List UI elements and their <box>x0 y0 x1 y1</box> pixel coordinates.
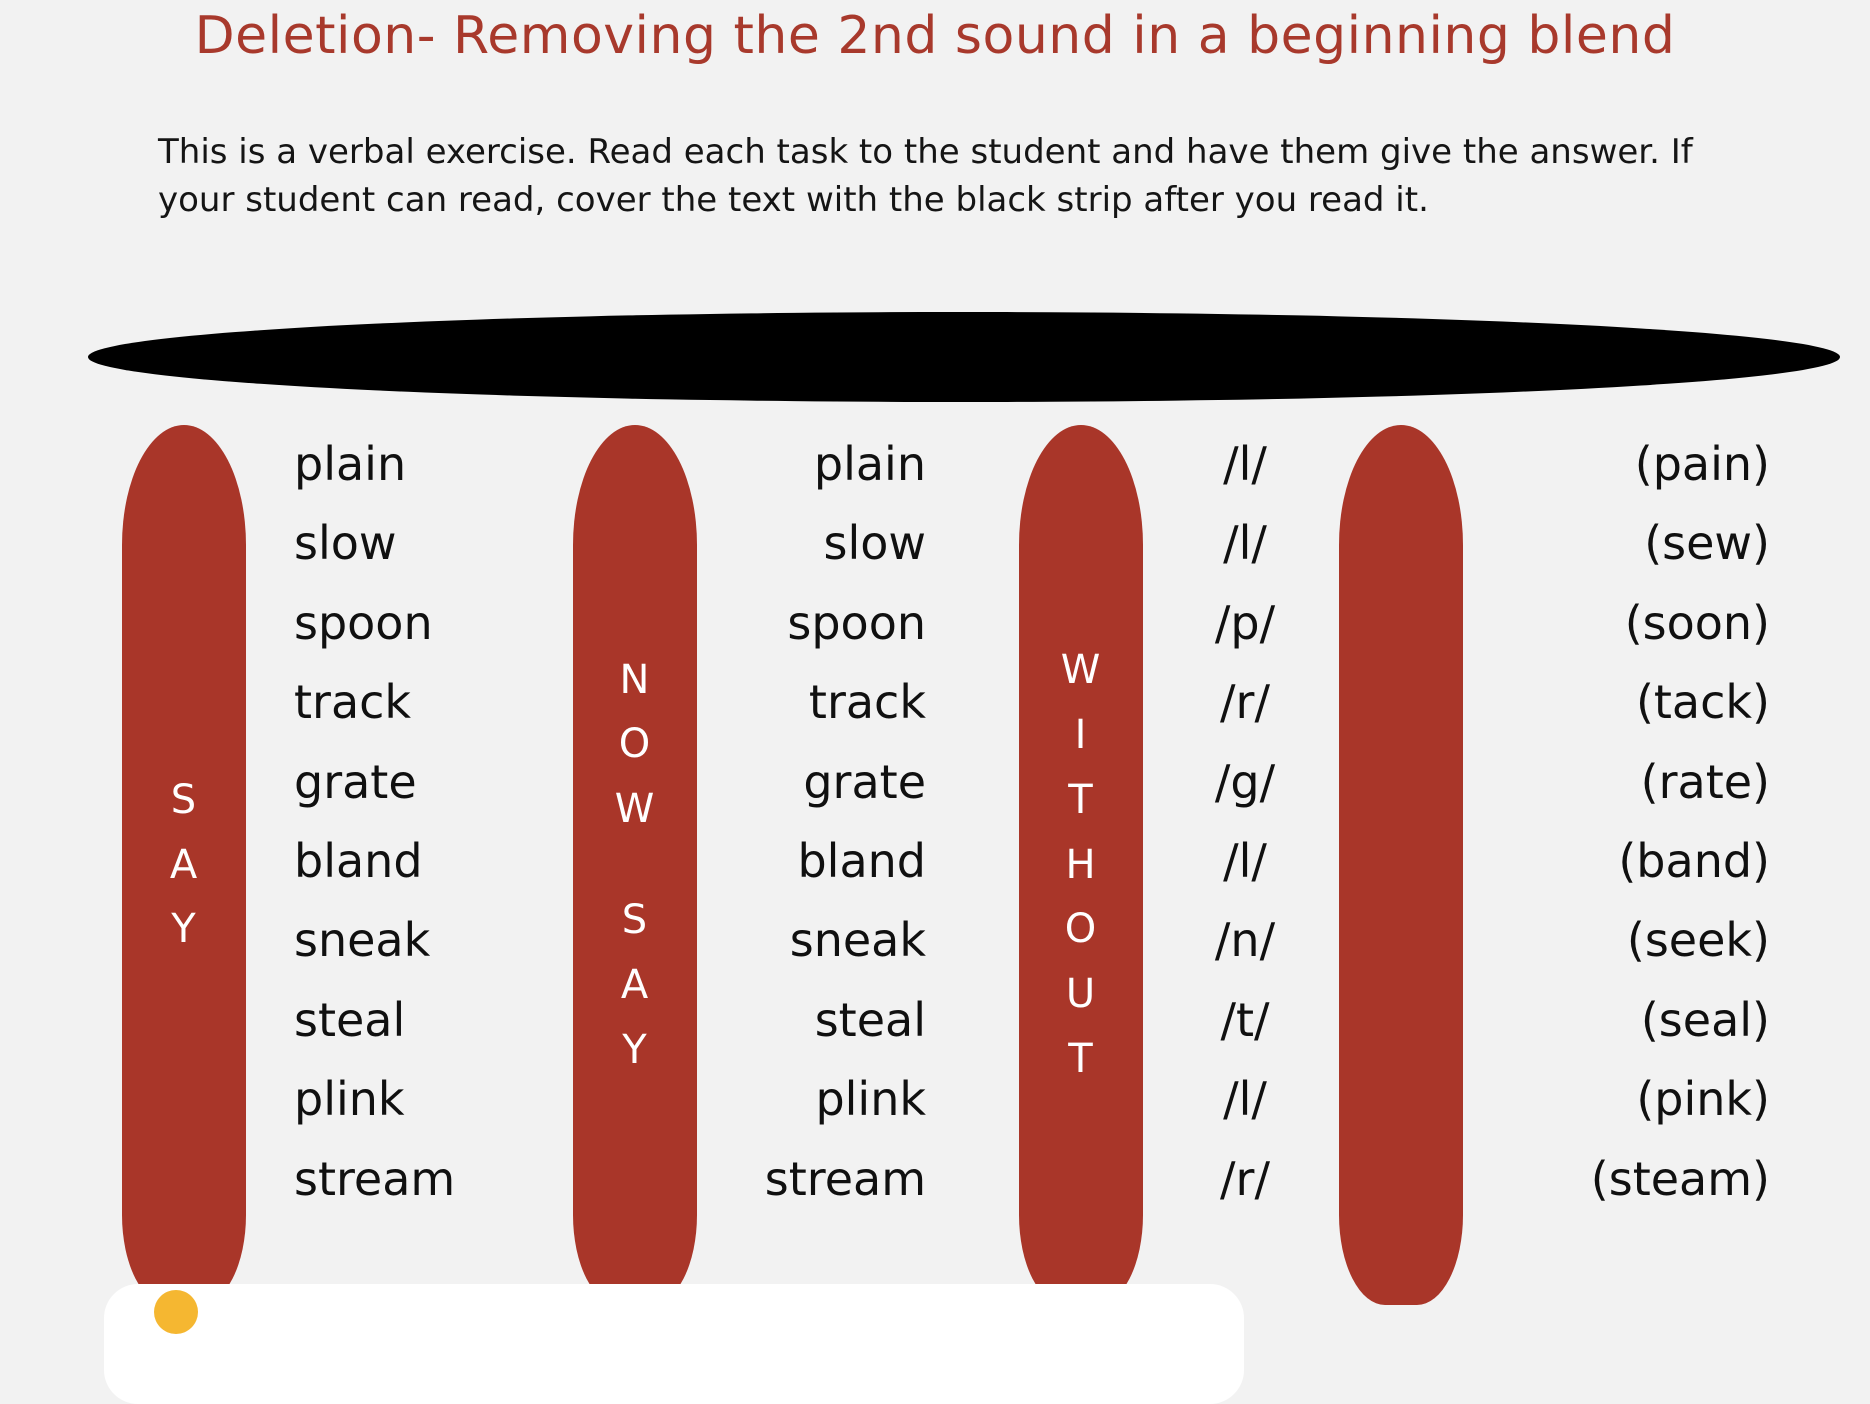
pill-letter: S <box>171 768 197 833</box>
pill-letter: W <box>1061 638 1102 703</box>
phoneme-cell: /l/ <box>1180 504 1310 583</box>
phoneme-cell: /t/ <box>1180 981 1310 1060</box>
pill-letter: O <box>619 712 651 777</box>
word-cell: stream <box>746 1140 926 1219</box>
word-cell: track <box>746 663 926 742</box>
phoneme-cell: /n/ <box>1180 901 1310 980</box>
word-cell: plain <box>294 425 534 504</box>
exercise-table: S A Y plain slow spoon track grate bland… <box>0 425 1870 1305</box>
label-pill-say: S A Y <box>122 425 246 1305</box>
pill-letter: A <box>621 953 649 1018</box>
label-pill-blank <box>1339 425 1463 1305</box>
column-answers: (pain) (sew) (soon) (tack) (rate) (band)… <box>1500 425 1770 1219</box>
pill-letter: I <box>1075 703 1088 768</box>
pill-letter: Y <box>622 1018 647 1083</box>
answer-cell: (seal) <box>1500 981 1770 1060</box>
black-cover-strip[interactable] <box>88 312 1840 402</box>
pill-letter: T <box>1068 768 1093 833</box>
word-cell: plink <box>746 1060 926 1139</box>
word-cell: slow <box>746 504 926 583</box>
phoneme-cell: /r/ <box>1180 663 1310 742</box>
pill-letter: A <box>170 833 198 898</box>
answer-cell: (seek) <box>1500 901 1770 980</box>
instructions-text: This is a verbal exercise. Read each tas… <box>158 128 1768 225</box>
answer-cell: (steam) <box>1500 1140 1770 1219</box>
column-say-words: plain slow spoon track grate bland sneak… <box>294 425 534 1219</box>
pill-letter: H <box>1065 833 1096 898</box>
answer-cell: (rate) <box>1500 743 1770 822</box>
word-cell: steal <box>294 981 534 1060</box>
word-cell: bland <box>294 822 534 901</box>
answer-cell: (band) <box>1500 822 1770 901</box>
answer-cell: (pink) <box>1500 1060 1770 1139</box>
phoneme-cell: /l/ <box>1180 822 1310 901</box>
word-cell: spoon <box>294 584 534 663</box>
pill-letter: O <box>1065 897 1097 962</box>
word-cell: plain <box>746 425 926 504</box>
bottom-panel-status-dot <box>154 1290 198 1334</box>
label-pill-now-say: N O W S A Y <box>573 425 697 1305</box>
label-pill-without: W I T H O U T <box>1019 425 1143 1305</box>
word-cell: stream <box>294 1140 534 1219</box>
phoneme-cell: /p/ <box>1180 584 1310 663</box>
column-now-say-words: plain slow spoon track grate bland sneak… <box>746 425 926 1219</box>
answer-cell: (pain) <box>1500 425 1770 504</box>
phoneme-cell: /l/ <box>1180 1060 1310 1139</box>
word-cell: track <box>294 663 534 742</box>
page-title: Deletion- Removing the 2nd sound in a be… <box>0 6 1870 66</box>
word-cell: bland <box>746 822 926 901</box>
pill-letter: T <box>1068 1027 1093 1092</box>
answer-cell: (soon) <box>1500 584 1770 663</box>
answer-cell: (sew) <box>1500 504 1770 583</box>
column-without-phonemes: /l/ /l/ /p/ /r/ /g/ /l/ /n/ /t/ /l/ /r/ <box>1180 425 1310 1219</box>
pill-letter: W <box>615 777 656 842</box>
pill-letter: S <box>622 888 648 953</box>
phoneme-cell: /g/ <box>1180 743 1310 822</box>
word-cell: grate <box>294 743 534 822</box>
word-cell: sneak <box>746 901 926 980</box>
phoneme-cell: /r/ <box>1180 1140 1310 1219</box>
word-cell: spoon <box>746 584 926 663</box>
bottom-overlay-panel[interactable] <box>104 1284 1244 1404</box>
phoneme-cell: /l/ <box>1180 425 1310 504</box>
pill-letter: Y <box>171 897 196 962</box>
pill-letter: U <box>1066 962 1096 1027</box>
pill-letter: N <box>620 648 651 713</box>
word-cell: slow <box>294 504 534 583</box>
word-cell: plink <box>294 1060 534 1139</box>
word-cell: steal <box>746 981 926 1060</box>
word-cell: grate <box>746 743 926 822</box>
answer-cell: (tack) <box>1500 663 1770 742</box>
word-cell: sneak <box>294 901 534 980</box>
